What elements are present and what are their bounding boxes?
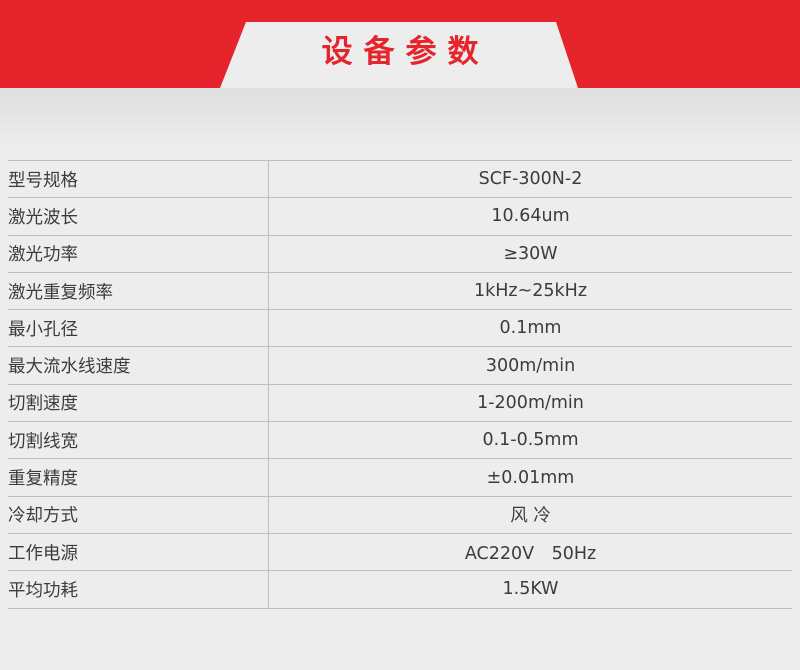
equipment-spec-table: 型号规格 SCF-300N-2 激光波长 10.64um 激光功率 ≥30W 激… bbox=[8, 160, 792, 609]
table-row: 冷却方式 风 冷 bbox=[8, 496, 792, 533]
spec-label-cell: 最大流水线速度 bbox=[8, 347, 269, 384]
table-row: 型号规格 SCF-300N-2 bbox=[8, 161, 792, 198]
spec-value-cell: 0.1-0.5mm bbox=[269, 422, 793, 459]
spec-label-cell: 冷却方式 bbox=[8, 496, 269, 533]
spec-value-cell: 1-200m/min bbox=[269, 384, 793, 421]
table-row: 工作电源 AC220V 50Hz bbox=[8, 533, 792, 570]
banner-gradient-strip bbox=[0, 88, 800, 160]
table-row: 切割速度 1-200m/min bbox=[8, 384, 792, 421]
table-row: 激光功率 ≥30W bbox=[8, 235, 792, 272]
spec-value-cell: ±0.01mm bbox=[269, 459, 793, 496]
spec-table-body: 型号规格 SCF-300N-2 激光波长 10.64um 激光功率 ≥30W 激… bbox=[8, 161, 792, 609]
spec-label-cell: 工作电源 bbox=[8, 533, 269, 570]
spec-value-cell: 1.5KW bbox=[269, 571, 793, 608]
table-row: 重复精度 ±0.01mm bbox=[8, 459, 792, 496]
page-banner: 设备参数 bbox=[0, 0, 800, 88]
spec-label-cell: 激光功率 bbox=[8, 235, 269, 272]
spec-value-cell: 300m/min bbox=[269, 347, 793, 384]
spec-value-cell: 1kHz~25kHz bbox=[269, 272, 793, 309]
table-row: 切割线宽 0.1-0.5mm bbox=[8, 422, 792, 459]
spec-label-cell: 型号规格 bbox=[8, 161, 269, 198]
table-row: 最小孔径 0.1mm bbox=[8, 310, 792, 347]
spec-value-cell: ≥30W bbox=[269, 235, 793, 272]
spec-label-cell: 平均功耗 bbox=[8, 571, 269, 608]
spec-value-cell: SCF-300N-2 bbox=[269, 161, 793, 198]
spec-table-container: 型号规格 SCF-300N-2 激光波长 10.64um 激光功率 ≥30W 激… bbox=[8, 160, 792, 609]
table-row: 激光波长 10.64um bbox=[8, 198, 792, 235]
spec-value-cell: AC220V 50Hz bbox=[269, 533, 793, 570]
spec-value-cell: 10.64um bbox=[269, 198, 793, 235]
spec-label-cell: 激光重复频率 bbox=[8, 272, 269, 309]
spec-label-cell: 激光波长 bbox=[8, 198, 269, 235]
table-row: 激光重复频率 1kHz~25kHz bbox=[8, 272, 792, 309]
spec-value-cell: 风 冷 bbox=[269, 496, 793, 533]
spec-label-cell: 切割速度 bbox=[8, 384, 269, 421]
spec-label-cell: 重复精度 bbox=[8, 459, 269, 496]
table-row: 最大流水线速度 300m/min bbox=[8, 347, 792, 384]
table-row: 平均功耗 1.5KW bbox=[8, 571, 792, 608]
spec-label-cell: 切割线宽 bbox=[8, 422, 269, 459]
page-title: 设备参数 bbox=[0, 0, 800, 88]
spec-label-cell: 最小孔径 bbox=[8, 310, 269, 347]
spec-value-cell: 0.1mm bbox=[269, 310, 793, 347]
